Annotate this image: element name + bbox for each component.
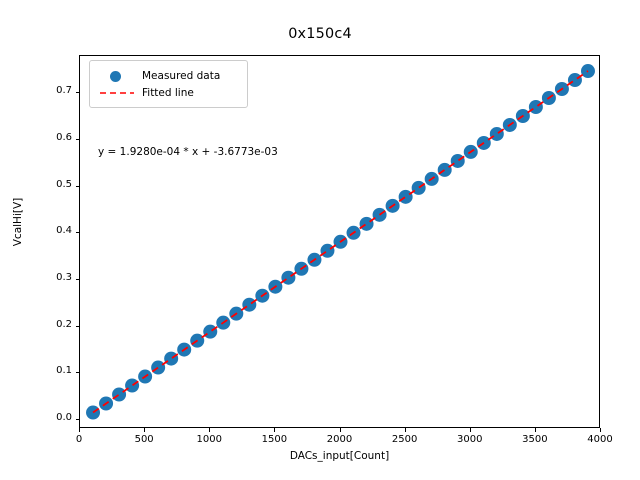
- legend-entry-fitted-line: Fitted line: [98, 84, 239, 101]
- plot-axes-area: [79, 55, 600, 428]
- chart-title: 0x150c4: [0, 26, 640, 42]
- x-tick-label: 1000: [179, 434, 239, 445]
- x-tick-mark: [340, 428, 341, 432]
- x-tick-mark: [405, 428, 406, 432]
- y-tick-label: 0.3: [32, 272, 72, 283]
- legend-label-fitted-line: Fitted line: [136, 87, 194, 99]
- x-tick-label: 2500: [375, 434, 435, 445]
- y-tick-mark: [76, 326, 80, 327]
- dashed-line-marker-icon: [98, 85, 136, 101]
- y-tick-label: 0.1: [32, 365, 72, 376]
- y-tick-mark: [76, 419, 80, 420]
- x-tick-label: 3000: [440, 434, 500, 445]
- x-tick-label: 3500: [505, 434, 565, 445]
- y-tick-label: 0.2: [32, 319, 72, 330]
- fit-equation-annotation: y = 1.9280e-04 * x + -3.6773e-03: [98, 146, 278, 158]
- y-tick-mark: [76, 232, 80, 233]
- x-tick-mark: [600, 428, 601, 432]
- legend-label-measured-data: Measured data: [136, 70, 220, 82]
- x-tick-label: 500: [114, 434, 174, 445]
- y-tick-label: 0.0: [32, 412, 72, 423]
- chart-legend: Measured data Fitted line: [89, 60, 248, 108]
- y-axis-label: VcalHi[V]: [12, 142, 24, 302]
- x-tick-mark: [274, 428, 275, 432]
- y-tick-mark: [76, 139, 80, 140]
- x-tick-label: 2000: [310, 434, 370, 445]
- x-tick-mark: [535, 428, 536, 432]
- x-axis-label: DACs_input[Count]: [79, 450, 600, 462]
- x-tick-mark: [470, 428, 471, 432]
- x-tick-mark: [144, 428, 145, 432]
- x-tick-mark: [209, 428, 210, 432]
- y-tick-mark: [76, 92, 80, 93]
- y-tick-mark: [76, 279, 80, 280]
- y-tick-label: 0.7: [32, 85, 72, 96]
- plot-canvas: [80, 56, 601, 429]
- y-tick-mark: [76, 372, 80, 373]
- y-tick-label: 0.6: [32, 132, 72, 143]
- y-tick-mark: [76, 186, 80, 187]
- x-tick-label: 1500: [244, 434, 304, 445]
- x-tick-mark: [79, 428, 80, 432]
- matplotlib-figure: 0x150c4 y = 1.9280e-04 * x + -3.6773e-03…: [0, 0, 640, 480]
- fitted-line: [93, 71, 588, 413]
- filled-circle-marker-icon: [98, 68, 136, 84]
- y-tick-label: 0.5: [32, 179, 72, 190]
- y-tick-label: 0.4: [32, 225, 72, 236]
- x-tick-label: 0: [49, 434, 109, 445]
- legend-entry-measured-data: Measured data: [98, 67, 239, 84]
- x-tick-label: 4000: [570, 434, 630, 445]
